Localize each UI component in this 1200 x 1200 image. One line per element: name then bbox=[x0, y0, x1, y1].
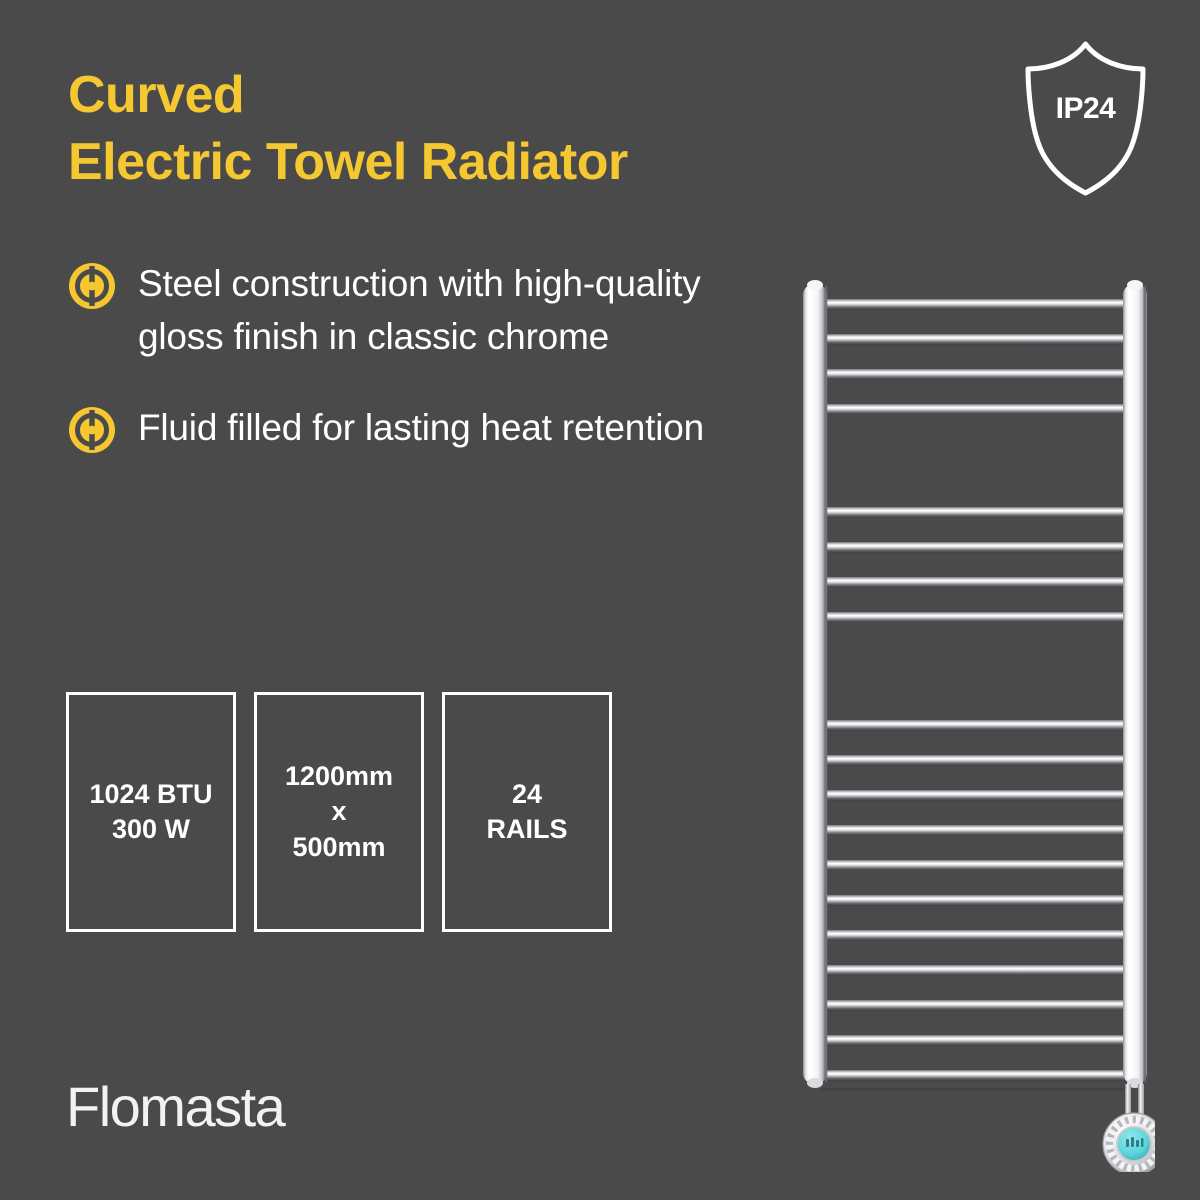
ip-rating-label: IP24 bbox=[1018, 36, 1153, 196]
bullet-target-icon bbox=[68, 262, 116, 310]
spec-box-heat-output: 1024 BTU 300 W bbox=[66, 692, 236, 932]
ip-rating-badge: IP24 bbox=[1018, 36, 1153, 196]
spec-box-text: 24 RAILS bbox=[487, 777, 568, 847]
bullet-target-icon bbox=[68, 406, 116, 454]
page-title: Curved Electric Towel Radiator bbox=[68, 62, 828, 195]
feature-item: Fluid filled for lasting heat retention bbox=[68, 402, 748, 455]
title-line-2: Electric Towel Radiator bbox=[68, 129, 828, 196]
feature-item: Steel construction with high-quality glo… bbox=[68, 258, 748, 364]
spec-box-dimensions: 1200mm x 500mm bbox=[254, 692, 424, 932]
radiator-rails bbox=[821, 299, 1129, 1094]
spec-box-rail-count: 24 RAILS bbox=[442, 692, 612, 932]
feature-text: Fluid filled for lasting heat retention bbox=[138, 402, 704, 455]
product-info-card: Curved Electric Towel Radiator IP24 Stee… bbox=[0, 0, 1200, 1200]
spec-box-text: 1200mm x 500mm bbox=[285, 759, 393, 864]
flomasta-logo-icon: Flomasta bbox=[66, 1078, 346, 1140]
thermostat-element bbox=[1103, 1084, 1155, 1172]
product-image-radiator bbox=[795, 272, 1155, 1172]
brand-name: Flomasta bbox=[66, 1078, 287, 1138]
spec-box-group: 1024 BTU 300 W 1200mm x 500mm 24 RAILS bbox=[66, 692, 612, 932]
title-line-1: Curved bbox=[68, 62, 828, 129]
brand-logo: Flomasta bbox=[66, 1078, 346, 1140]
feature-list: Steel construction with high-quality glo… bbox=[68, 258, 748, 493]
spec-box-text: 1024 BTU 300 W bbox=[89, 777, 212, 847]
feature-text: Steel construction with high-quality glo… bbox=[138, 258, 738, 364]
